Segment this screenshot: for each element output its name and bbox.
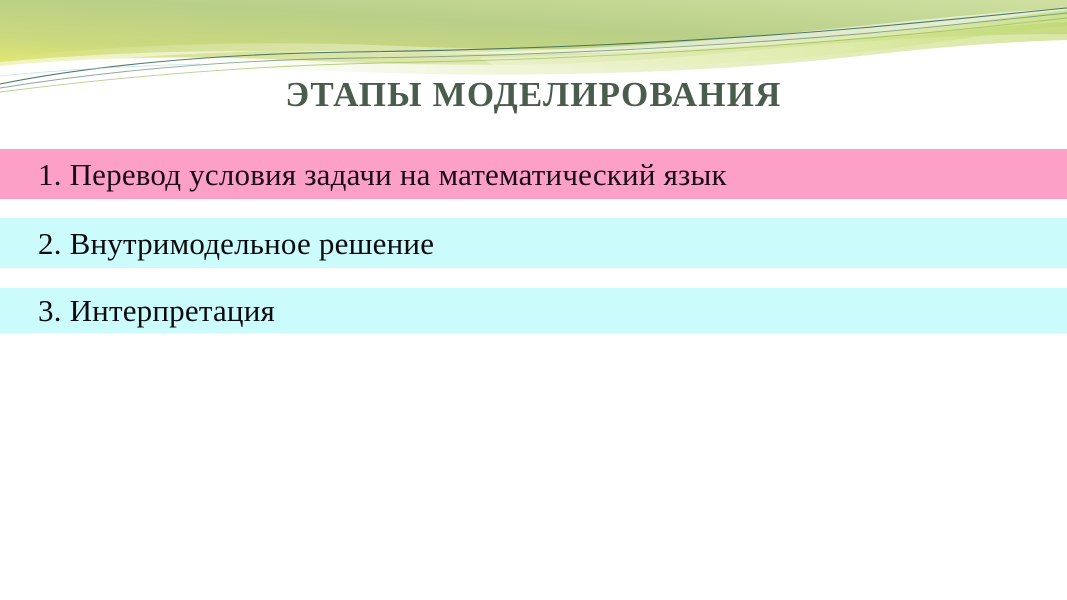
step-3-label: 3. Интерпретация	[0, 295, 275, 326]
list-item: 1. Перевод условия задачи на математичес…	[0, 149, 1067, 199]
step-1-label: 1. Перевод условия задачи на математичес…	[0, 159, 727, 190]
list-item: 3. Интерпретация	[0, 288, 1067, 333]
slide-canvas: ЭТАПЫ МОДЕЛИРОВАНИЯ 1. Перевод условия з…	[0, 0, 1067, 600]
list-item: 2. Внутримодельное решение	[0, 218, 1067, 268]
steps-list: 1. Перевод условия задачи на математичес…	[0, 0, 1067, 600]
step-2-label: 2. Внутримодельное решение	[0, 228, 434, 259]
